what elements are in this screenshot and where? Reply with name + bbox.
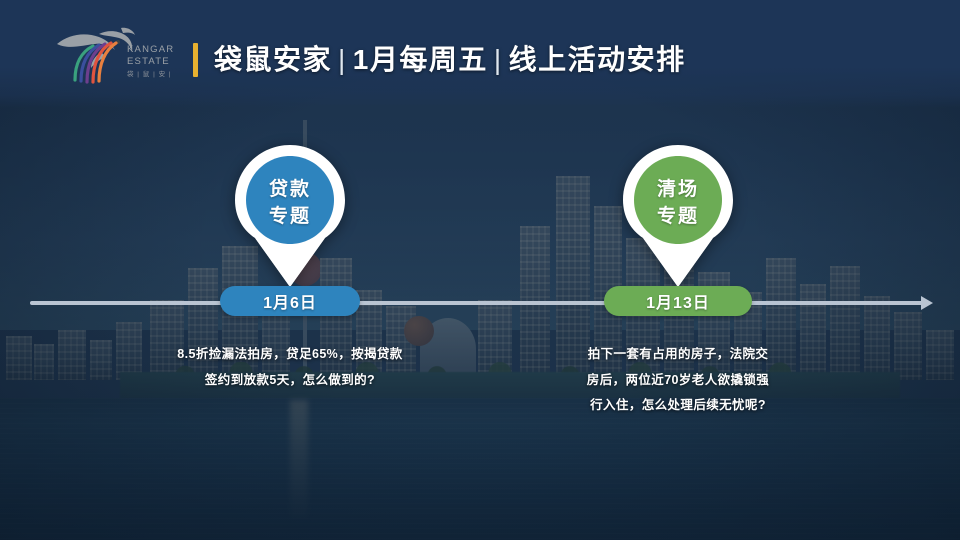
pin-label: 清场 专题 (619, 177, 737, 231)
timeline-milestone-2[interactable]: 清场 专题 1月13日 拍下一套有占用的房子，法院交房后，两位近70岁老人欲撬锁… (528, 0, 828, 419)
pin-label: 贷款 专题 (231, 177, 349, 231)
map-pin-icon[interactable]: 贷款 专题 (231, 143, 349, 289)
milestone-description: 8.5折捡漏法拍房，贷足65%，按揭贷款签约到放款5天，怎么做到的? (171, 342, 409, 393)
pin-label-line2: 专题 (619, 204, 737, 231)
pin-label-line1: 清场 (619, 177, 737, 204)
date-badge[interactable]: 1月13日 (604, 286, 752, 316)
pin-label-line2: 专题 (231, 204, 349, 231)
title-separator: | (488, 44, 509, 75)
arrow-right-icon (921, 296, 933, 310)
milestone-description: 拍下一套有占用的房子，法院交房后，两位近70岁老人欲撬锁强行入住，怎么处理后续无… (583, 342, 773, 419)
date-badge[interactable]: 1月6日 (220, 286, 360, 316)
slide-canvas: KANGAROO ESTATE 袋 | 鼠 | 安 | 家 袋鼠安家|1月每周五… (0, 0, 960, 540)
logo-arcs (75, 43, 116, 82)
timeline-milestone-1[interactable]: 贷款 专题 1月6日 8.5折捡漏法拍房，贷足65%，按揭贷款签约到放款5天，怎… (140, 0, 440, 393)
map-pin-icon[interactable]: 清场 专题 (619, 143, 737, 289)
pin-label-line1: 贷款 (231, 177, 349, 204)
